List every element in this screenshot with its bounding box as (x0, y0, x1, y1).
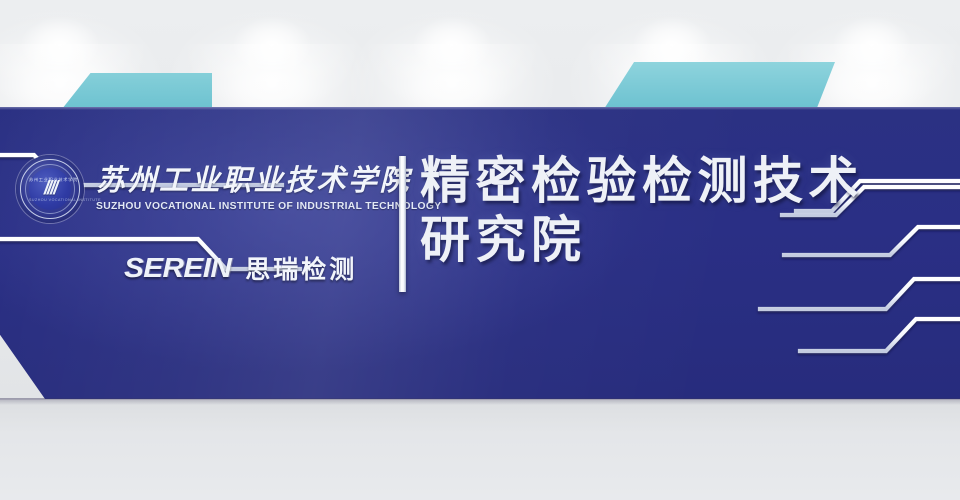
panel-top-highlight (0, 107, 960, 110)
school-name-english: SUZHOU VOCATIONAL INSTITUTE OF INDUSTRIA… (96, 201, 441, 212)
page-title: 精密检验检测技术 研究院 (420, 152, 950, 270)
school-name-group: 苏州工业职业技术学院 SUZHOU VOCATIONAL INSTITUTE O… (96, 166, 441, 212)
partner-brand-row: SEREIN 思瑞检测 (124, 250, 357, 286)
crest-disc: 苏州工业职业技术学院 //// SUZHOU VOCATIONAL INSTIT… (29, 168, 71, 210)
page-title-line-1: 精密检验检测技术 (420, 152, 864, 210)
school-name-chinese: 苏州工业职业技术学院 (96, 166, 441, 196)
signage-scene: 苏州工业职业技术学院 //// SUZHOU VOCATIONAL INSTIT… (0, 0, 960, 500)
floor-band (0, 398, 960, 500)
serein-name-chinese: 思瑞检测 (245, 250, 357, 286)
school-identity-row: 苏州工业职业技术学院 //// SUZHOU VOCATIONAL INSTIT… (16, 155, 441, 223)
crest-arc-bottom-text: SUZHOU VOCATIONAL INSTITUTE (29, 198, 71, 202)
vertical-divider-bar (399, 156, 406, 292)
crest-monogram: //// (29, 178, 71, 200)
school-crest-icon: 苏州工业职业技术学院 //// SUZHOU VOCATIONAL INSTIT… (16, 155, 84, 223)
serein-wordmark: SEREIN (124, 252, 231, 284)
page-title-line-2: 研究院 (420, 211, 950, 270)
institution-logo-block: 苏州工业职业技术学院 //// SUZHOU VOCATIONAL INSTIT… (16, 155, 394, 295)
